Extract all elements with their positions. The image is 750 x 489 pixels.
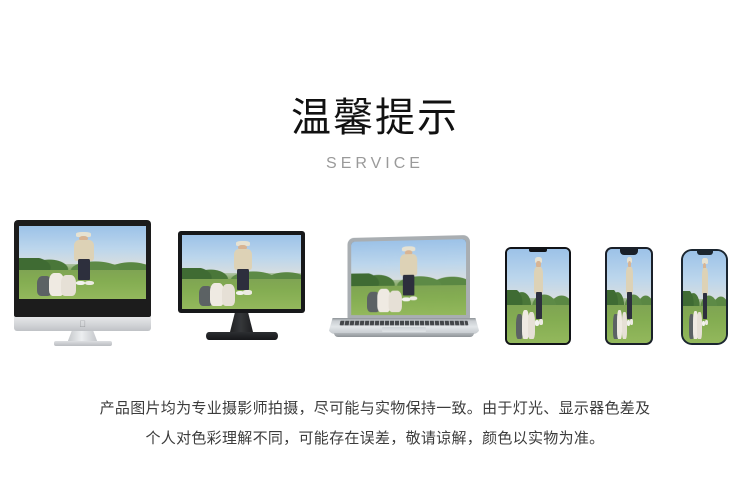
- product-photo: [19, 226, 146, 299]
- monitor-stand-base: [206, 332, 278, 340]
- photo-person-legs: [237, 269, 249, 290]
- tablet-notch: [529, 249, 547, 252]
- laptop-keyboard: [340, 321, 469, 326]
- product-photo: [351, 239, 466, 315]
- phone-housing: [681, 249, 728, 345]
- imac-display-housing: [14, 220, 151, 317]
- photo-dogs: [37, 271, 78, 296]
- promo-banner: 温馨提示 SERVICE: [0, 0, 750, 489]
- phone-notch: [697, 251, 713, 255]
- photo-person: [534, 257, 544, 325]
- photo-person-legs: [536, 292, 542, 319]
- photo-person-shoe: [705, 320, 708, 325]
- photo-person-jacket: [74, 240, 94, 261]
- device-imac: : [14, 220, 151, 345]
- laptop-front-edge: [334, 333, 474, 337]
- photo-person-jacket: [534, 267, 544, 294]
- monitor-stand-neck: [230, 313, 254, 334]
- laptop-screen: [351, 239, 466, 315]
- disclaimer-line-2: 个人对色彩理解不同，可能存在误差，敬请谅解，颜色以实物为准。: [0, 423, 750, 453]
- photo-person-shoe: [539, 319, 543, 324]
- page-subtitle: SERVICE: [0, 154, 750, 174]
- phone-screen: [683, 251, 726, 343]
- imac-screen: [19, 226, 146, 299]
- monitor-display-housing: [178, 231, 305, 313]
- disclaimer-note: 产品图片均为专业摄影师拍摄，尽可能与实物保持一致。由于灯光、显示器色差及 个人对…: [0, 393, 750, 453]
- product-photo: [182, 235, 301, 309]
- photo-dogs: [199, 281, 237, 306]
- disclaimer-line-1: 产品图片均为专业摄影师拍摄，尽可能与实物保持一致。由于灯光、显示器色差及: [0, 393, 750, 423]
- product-photo: [607, 249, 651, 343]
- photo-person: [74, 232, 94, 285]
- photo-person-legs: [403, 274, 414, 296]
- photo-person-legs: [627, 292, 631, 319]
- photo-person-jacket: [400, 254, 418, 276]
- page-title: 温馨提示: [0, 94, 750, 142]
- device-phone-rounded: [681, 249, 728, 345]
- device-lineup: : [0, 205, 750, 345]
- photo-person-jacket: [626, 267, 633, 294]
- header: 温馨提示 SERVICE: [0, 94, 750, 174]
- phone-screen: [607, 249, 651, 343]
- photo-dogs: [516, 307, 536, 339]
- photo-person: [626, 257, 633, 325]
- photo-person-shoe: [410, 296, 418, 300]
- tablet-housing: [505, 247, 571, 345]
- device-monitor: [178, 231, 305, 345]
- photo-dogs: [367, 287, 403, 312]
- photo-person-jacket: [234, 249, 252, 270]
- tablet-screen: [507, 249, 569, 343]
- device-phone-wide-notch: [605, 247, 653, 345]
- phone-notch: [620, 249, 638, 255]
- product-photo: [683, 251, 726, 343]
- product-photo: [507, 249, 569, 343]
- laptop-trackpad: [382, 327, 426, 332]
- imac-stand-foot: [54, 341, 112, 346]
- photo-person-legs: [78, 259, 91, 280]
- phone-housing: [605, 247, 653, 345]
- device-laptop: [328, 235, 480, 345]
- monitor-screen: [182, 235, 301, 309]
- device-tablet: [505, 247, 571, 345]
- photo-person-shoe: [243, 290, 251, 294]
- photo-person: [233, 241, 252, 294]
- photo-person-shoe: [630, 319, 633, 324]
- laptop-lid: [348, 235, 470, 319]
- apple-logo-icon: : [79, 320, 87, 329]
- photo-person-jacket: [702, 268, 709, 294]
- photo-person: [701, 258, 708, 324]
- photo-person-shoe: [85, 281, 94, 285]
- photo-person: [400, 246, 418, 300]
- photo-person-legs: [703, 293, 707, 319]
